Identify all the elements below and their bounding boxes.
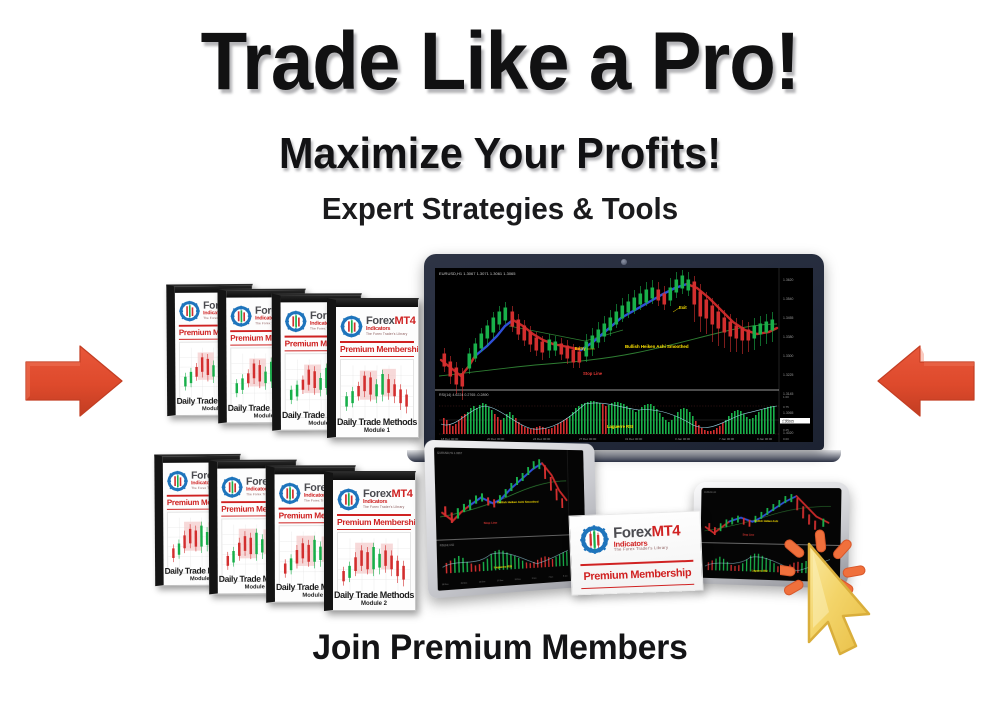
gear-candlestick-icon: [337, 488, 360, 511]
product-box-stack-row1: ForexMT4 Indicators The Forex Trader's L…: [164, 270, 444, 440]
divider: [337, 514, 411, 516]
gear-candlestick-icon: [167, 470, 189, 492]
svg-text:RSI(14) 4.62: RSI(14) 4.62: [440, 544, 455, 548]
svg-text:24 Dec: 24 Dec: [479, 581, 485, 583]
divider: [340, 356, 414, 358]
product-box-stack-row2: ForexMT4 Indicators The Forex Trader's L…: [152, 440, 442, 615]
tablet-chart: EURUSD,H1 1.3067: [434, 447, 586, 590]
headline-block: Trade Like a Pro! Maximize Your Profits!…: [0, 0, 1000, 228]
svg-text:Laguerre RSI: Laguerre RSI: [752, 569, 768, 573]
divider: [581, 583, 694, 589]
svg-text:EURUSD,H1 1.3067: EURUSD,H1 1.3067: [437, 451, 462, 456]
box-chart: [337, 532, 411, 598]
brand-tagline: The Forex Trader's Library: [614, 545, 681, 552]
gear-candlestick-icon: [179, 300, 201, 322]
promo-banner: Trade Like a Pro! Maximize Your Profits!…: [0, 0, 1000, 704]
annotation-indicator-name: Bullish Heiken Ashi Smoothed: [625, 344, 689, 349]
annotation-stop-line: Stop Line: [583, 371, 603, 376]
page-subtitle: Maximize Your Profits!: [30, 128, 970, 180]
box-spine: [327, 298, 419, 307]
box-chart: [340, 359, 414, 425]
svg-text:7 Jan 00:00: 7 Jan 00:00: [719, 437, 735, 441]
indicator-header: RSI(14) 4.6224 0.2765 -0.2890: [439, 393, 489, 397]
svg-text:1.3380: 1.3380: [783, 335, 793, 339]
box-module: Module 1: [336, 428, 418, 434]
box-title: Daily Trade Methods: [333, 590, 415, 600]
brand-mt4: MT4: [391, 488, 412, 500]
svg-text:31 Dec: 31 Dec: [515, 579, 521, 581]
product-box[interactable]: ForexMT4 Indicators The Forex Trader's L…: [327, 298, 419, 438]
card-brand: ForexMT4 Indicators The Forex Trader's L…: [613, 523, 681, 552]
svg-text:3 Jan 00:00: 3 Jan 00:00: [675, 437, 691, 441]
svg-text:27 Dec 00:00: 27 Dec 00:00: [579, 437, 597, 441]
gear-candlestick-icon: [340, 315, 363, 338]
laptop-lid: EURUSD,H1 1.3067 1.3071 1.3061 1.3065 1.…: [424, 254, 824, 450]
divider: [340, 341, 414, 343]
svg-text:Stop Line: Stop Line: [484, 521, 498, 525]
page-title: Trade Like a Pro!: [35, 0, 965, 110]
svg-text:1.00: 1.00: [783, 395, 789, 399]
gear-candlestick-icon: [579, 524, 610, 555]
brand-tagline: The Forex Trader's Library: [363, 506, 413, 509]
svg-text:31 Dec 00:00: 31 Dec 00:00: [625, 437, 643, 441]
laptop-screen: EURUSD,H1 1.3067 1.3071 1.3061 1.3065 1.…: [435, 268, 813, 442]
svg-text:1.3225: 1.3225: [783, 373, 793, 377]
divider: [580, 560, 693, 566]
gear-candlestick-icon: [278, 482, 301, 505]
svg-text:9 Jan 00:00: 9 Jan 00:00: [757, 437, 773, 441]
svg-text:EURUSD,H1: EURUSD,H1: [704, 492, 717, 494]
svg-text:Stop Line: Stop Line: [743, 533, 755, 536]
card-membership-label: Premium Membership: [581, 566, 694, 582]
membership-label: Premium Membership: [337, 517, 411, 527]
svg-text:1.3065: 1.3065: [783, 411, 793, 415]
gear-candlestick-icon: [284, 310, 307, 333]
page-tagline: Expert Strategies & Tools: [25, 190, 975, 228]
gear-candlestick-icon: [230, 305, 252, 327]
svg-text:1.3455: 1.3455: [783, 316, 793, 320]
laptop-device: EURUSD,H1 1.3067 1.3071 1.3061 1.3065 1.…: [424, 254, 824, 464]
card-logo: ForexMT4 Indicators The Forex Trader's L…: [579, 521, 693, 555]
brand-mt4: MT4: [394, 315, 415, 327]
svg-text:1.3540: 1.3540: [783, 297, 793, 301]
brand-tagline: The Forex Trader's Library: [366, 333, 416, 336]
box-module: Module 2: [333, 601, 415, 607]
laptop-chart: EURUSD,H1 1.3067 1.3071 1.3061 1.3065 1.…: [435, 268, 813, 442]
svg-text:0.25: 0.25: [783, 428, 789, 432]
svg-text:0.00: 0.00: [783, 437, 789, 441]
svg-text:3 Jan: 3 Jan: [532, 578, 537, 580]
gear-candlestick-icon: [221, 476, 243, 498]
svg-text:7 Jan: 7 Jan: [549, 576, 554, 578]
svg-text:0.50: 0.50: [783, 418, 789, 422]
svg-text:27 Dec: 27 Dec: [497, 580, 503, 582]
svg-text:Bullish Heiken Ashi Smoothed: Bullish Heiken Ashi Smoothed: [497, 500, 539, 505]
annotation-rsi: Laguerre RSI: [607, 424, 633, 429]
arrow-left-icon: [874, 342, 978, 420]
tablet-screen: EURUSD,H1 1.3067: [434, 447, 586, 590]
annotation-exit: Exit: [679, 305, 687, 310]
divider: [337, 529, 411, 531]
webcam-icon: [621, 259, 627, 265]
box-title: Daily Trade Methods: [336, 417, 418, 427]
svg-text:24 Dec 00:00: 24 Dec 00:00: [533, 437, 551, 441]
svg-text:1.3300: 1.3300: [783, 354, 793, 358]
membership-card[interactable]: ForexMT4 Indicators The Forex Trader's L…: [569, 510, 704, 595]
box-spine: [324, 471, 416, 480]
svg-text:9 Jan: 9 Jan: [563, 575, 567, 577]
arrow-right-icon: [22, 342, 126, 420]
chart-symbol-header: EURUSD,H1 1.3067 1.3071 1.3061 1.3065: [439, 271, 516, 276]
product-box[interactable]: ForexMT4 Indicators The Forex Trader's L…: [324, 471, 416, 611]
svg-text:0.75: 0.75: [783, 405, 789, 409]
pointer-cursor-icon[interactable]: [795, 538, 879, 668]
svg-text:1.3620: 1.3620: [783, 278, 793, 282]
svg-text:Bullish Heiken Ashi: Bullish Heiken Ashi: [754, 520, 778, 523]
brand-mt4: MT4: [651, 522, 680, 540]
membership-label: Premium Membership: [340, 344, 414, 354]
annotation-entry: Entry: [575, 346, 586, 351]
